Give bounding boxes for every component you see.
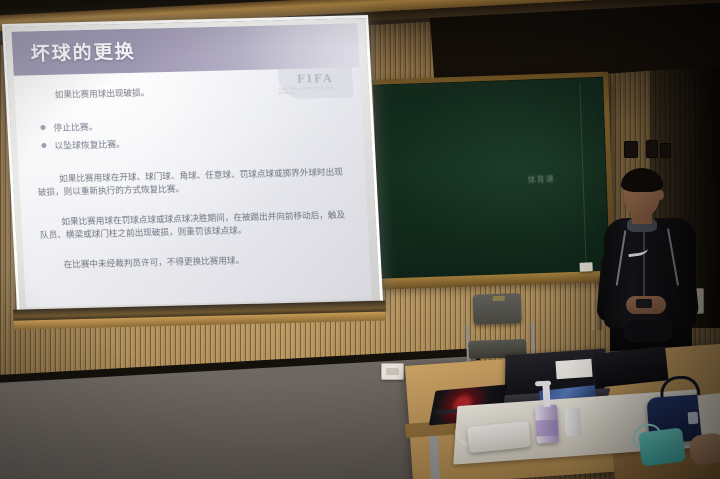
slide-body: 如果比赛用球出现破损。 停止比赛。 以坠球恢复比赛。 如果比赛用球在开球、球门球…	[14, 71, 370, 273]
instructor-hair	[621, 168, 663, 192]
screen-frame: 坏球的更换 FIFA FOR THE GAME. FOR THE WORLD. …	[2, 15, 383, 318]
desk-leg	[429, 436, 440, 479]
blackboard: 体育课	[368, 72, 615, 286]
instructor-ear	[657, 190, 664, 200]
list-item: 以坠球恢复比赛。	[41, 131, 364, 152]
sanitizer-label	[536, 419, 559, 436]
blackboard-surface: 体育课	[373, 77, 610, 281]
bag-tag	[688, 412, 699, 425]
white-papers[interactable]	[555, 359, 592, 379]
presentation-slide: 坏球的更换 FIFA FOR THE GAME. FOR THE WORLD. …	[11, 23, 371, 307]
bullet-label: 以坠球恢复比赛。	[54, 137, 125, 152]
person-hand	[688, 432, 720, 467]
bullet-label: 停止比赛。	[53, 120, 98, 134]
bullet-dot-icon	[41, 143, 46, 148]
chair-handle	[493, 296, 505, 301]
waist-pouch	[624, 318, 672, 342]
blackboard-divider	[579, 84, 586, 268]
list-item: 停止比赛。	[40, 113, 363, 134]
presentation-clicker[interactable]	[636, 299, 652, 308]
slide-paragraph: 在比赛中未经裁判员许可，不得更换比赛用球。	[41, 252, 352, 273]
bullet-dot-icon	[40, 125, 45, 130]
power-outlet[interactable]	[381, 363, 404, 380]
instructor	[598, 168, 702, 368]
wall-device-icon	[660, 143, 671, 158]
jacket-zipper	[643, 226, 645, 300]
face-mask[interactable]	[638, 427, 686, 466]
slide-title: 坏球的更换	[30, 37, 136, 67]
wall-device-icon	[624, 141, 638, 158]
clear-bottle[interactable]	[564, 408, 581, 437]
projection-screen: 坏球的更换 FIFA FOR THE GAME. FOR THE WORLD. …	[2, 15, 384, 324]
wall-device-icon	[646, 140, 658, 158]
slide-paragraph: 如果比赛用球在开球、球门球、角球、任意球、罚球点球或掷界外球时出现破损，则以重新…	[37, 167, 348, 201]
slide-intro-paragraph: 如果比赛用球出现破损。	[33, 83, 344, 104]
slide-paragraph: 如果比赛用球在罚球点球或球点球决胜期间，在被踢出并向前移动后，触及队员、横梁或球…	[39, 209, 350, 243]
blackboard-frame: 体育课	[368, 72, 615, 286]
eraser-icon[interactable]	[580, 262, 593, 271]
classroom-photo: 体育课 坏球的更换 FIFA FOR THE GAME. FOR THE WOR…	[0, 0, 720, 479]
chalk-text: 体育课	[527, 174, 554, 186]
sanitizer-pump[interactable]	[542, 383, 550, 407]
slide-bullet-list: 停止比赛。 以坠球恢复比赛。	[40, 113, 364, 152]
sanitizer-nozzle[interactable]	[535, 381, 551, 387]
